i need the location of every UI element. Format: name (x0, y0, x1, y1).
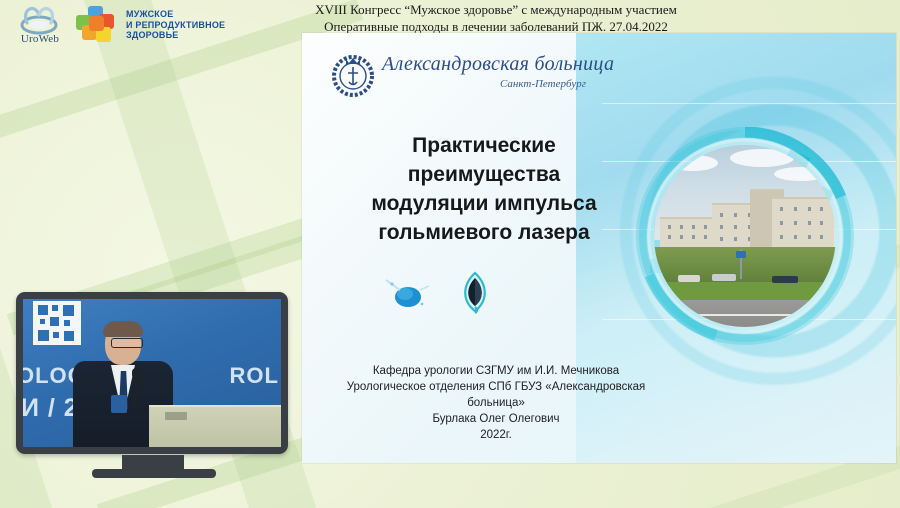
microphone-head (132, 368, 141, 379)
puzzle-piece (89, 16, 104, 31)
street-sign (736, 251, 746, 258)
slide-title-line3: модуляции импульса (324, 189, 644, 218)
hospital-crest-icon (330, 51, 376, 97)
header-title: XVIII Конгресс “Мужское здоровье” с межд… (286, 2, 706, 35)
puzzle-icon (76, 6, 122, 46)
header-title-line1: XVIII Конгресс “Мужское здоровье” с межд… (286, 2, 706, 19)
hospital-building-photo (654, 145, 836, 327)
speaker-video-screen[interactable]: ОLOGI И / 2 ROL (23, 299, 281, 447)
speaker-hair (103, 321, 143, 337)
backdrop-text-right: ROL (230, 363, 279, 389)
monitor-stand-neck (122, 455, 184, 469)
congress-text-line2: И РЕПРОДУКТИВНОЕ (126, 20, 225, 31)
parked-car (678, 275, 700, 282)
credits-line2: Урологическое отделения СПб ГБУЗ «Алекса… (316, 379, 676, 395)
cloud (730, 149, 794, 167)
congress-text-line1: МУЖСКОЕ (126, 9, 225, 20)
parked-car (772, 276, 798, 283)
credits-line4: Бурлака Олег Олегович (316, 411, 676, 427)
hospital-logo: Александровская больница Санкт-Петербург (330, 49, 630, 101)
podium (149, 405, 281, 447)
slide-credits: Кафедра урологии СЗГМУ им И.И. Мечникова… (316, 363, 676, 443)
slide-title-line1: Практические (324, 131, 644, 160)
speaker-badge (111, 395, 127, 413)
congress-logo-text: МУЖСКОЕ И РЕПРОДУКТИВНОЕ ЗДОРОВЬЕ (126, 9, 225, 41)
congress-logo: МУЖСКОЕ И РЕПРОДУКТИВНОЕ ЗДОРОВЬЕ (76, 4, 236, 46)
uroweb-swirl-icon (15, 3, 63, 35)
credits-line1: Кафедра урологии СЗГМУ им И.И. Мечникова (316, 363, 676, 379)
cloud (668, 155, 718, 171)
congress-text-line3: ЗДОРОВЬЕ (126, 30, 225, 41)
uroweb-logo: UroWeb (9, 3, 71, 49)
speaker-glasses (111, 338, 143, 348)
presentation-slide: Александровская больница Санкт-Петербург… (302, 33, 896, 463)
hospital-name: Александровская больница (382, 53, 614, 76)
monitor-stand-base (92, 469, 216, 478)
slide-title: Практические преимущества модуляции импу… (324, 131, 644, 247)
stone-fragment-icon (384, 276, 430, 312)
laser-fiber-icon (458, 271, 492, 315)
photo-road-marking (654, 314, 836, 316)
speaker-video-monitor[interactable]: ОLOGI И / 2 ROL (16, 292, 288, 454)
podium-badge (165, 412, 187, 420)
slide-hairline (602, 103, 896, 104)
photo-lawn (654, 282, 836, 302)
uroweb-label: UroWeb (9, 33, 71, 45)
slide-title-line4: гольмиевого лазера (324, 218, 644, 247)
cloud (774, 167, 828, 181)
slide-title-line2: преимущества (324, 160, 644, 189)
parked-car (712, 274, 736, 281)
credits-line3: больница» (316, 395, 676, 411)
hospital-city: Санкт-Петербург (500, 78, 586, 90)
credits-line5: 2022г. (316, 427, 676, 443)
